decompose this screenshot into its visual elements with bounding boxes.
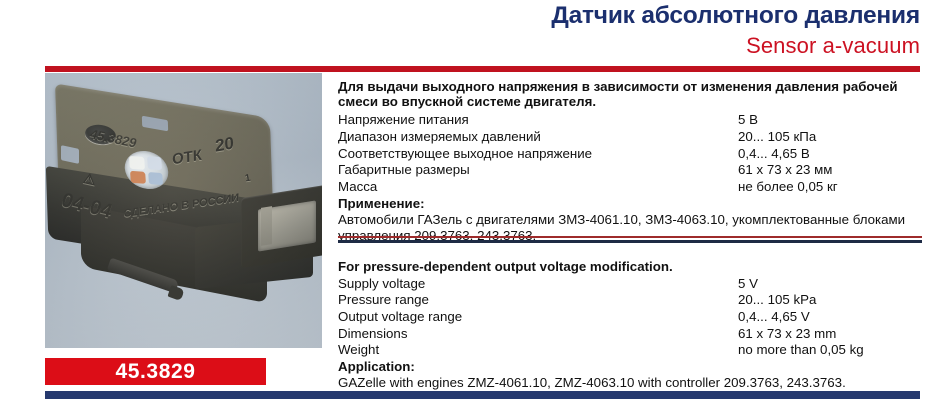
spec-value: не более 0,05 кг [738, 179, 838, 196]
divider-navy-line [338, 240, 922, 243]
table-row: Напряжение питания 5 В [338, 112, 922, 129]
spec-value: no more than 0,05 kg [738, 342, 864, 359]
intro-text-russian: Для выдачи выходного напряжения в зависи… [338, 80, 922, 109]
section-divider [338, 236, 922, 243]
table-row: Dimensions 61 x 73 x 23 mm [338, 326, 922, 343]
spec-value: 20... 105 kPa [738, 292, 816, 309]
page-header: Датчик абсолютного давления Sensor a-vac… [0, 0, 927, 62]
table-row: Supply voltage 5 V [338, 276, 922, 293]
table-row: Weight no more than 0,05 kg [338, 342, 922, 359]
top-red-rule [45, 66, 920, 72]
part-number-text: 45.3829 [115, 360, 195, 384]
sensor-connector-rib [261, 206, 272, 246]
photo-marking-small-number: 1 [244, 173, 251, 185]
spec-value: 20... 105 кПа [738, 129, 816, 146]
product-photo: 45.3829 ОТК 20 СДЕЛАНО В РОССИИ 04-04 ⚠ … [45, 73, 322, 348]
spec-value: 61 x 73 x 23 mm [738, 326, 836, 343]
table-row: Диапазон измеряемых давлений 20... 105 к… [338, 129, 922, 146]
table-row: Масса не более 0,05 кг [338, 179, 922, 196]
warning-triangle-icon: ⚠ [82, 170, 96, 190]
spec-value: 5 V [738, 276, 758, 293]
application-heading-english: Application: [338, 359, 922, 375]
spec-label: Соответствующее выходное напряжение [338, 146, 592, 161]
application-text-english: GAZelle with engines ZMZ-4061.10, ZMZ-40… [338, 375, 922, 391]
spec-label: Габаритные размеры [338, 162, 470, 177]
spec-value: 0,4... 4,65 V [738, 309, 810, 326]
specs-russian: Для выдачи выходного напряжения в зависи… [338, 80, 922, 244]
table-row: Pressure range 20... 105 kPa [338, 292, 922, 309]
spec-value: 61 х 73 х 23 мм [738, 162, 832, 179]
part-number-badge: 45.3829 [45, 358, 266, 385]
spec-label: Масса [338, 179, 377, 194]
spec-list-russian: Напряжение питания 5 В Диапазон измеряем… [338, 112, 922, 195]
page-title-english: Sensor a-vacuum [746, 33, 920, 59]
bottom-navy-bar [45, 391, 920, 399]
spec-label: Диапазон измеряемых давлений [338, 129, 541, 144]
spec-value: 0,4... 4,65 В [738, 146, 810, 163]
page-title-russian: Датчик абсолютного давления [551, 2, 920, 30]
application-heading-russian: Применение: [338, 196, 922, 212]
spec-value: 5 В [738, 112, 758, 129]
spec-label: Weight [338, 342, 379, 357]
divider-red-line [338, 236, 922, 238]
spec-label: Dimensions [338, 326, 407, 341]
sensor-vacuum-nipple-tip [167, 285, 184, 301]
spec-label: Supply voltage [338, 276, 425, 291]
table-row: Output voltage range 0,4... 4,65 V [338, 309, 922, 326]
photo-marking-otk-number: 20 [215, 133, 234, 156]
intro-text-english: For pressure-dependent output voltage mo… [338, 260, 922, 275]
spec-list-english: Supply voltage 5 V Pressure range 20... … [338, 276, 922, 359]
spec-label: Напряжение питания [338, 112, 469, 127]
spec-label: Pressure range [338, 292, 429, 307]
specs-english: For pressure-dependent output voltage mo… [338, 260, 922, 391]
table-row: Соответствующее выходное напряжение 0,4.… [338, 146, 922, 163]
table-row: Габаритные размеры 61 х 73 х 23 мм [338, 162, 922, 179]
spec-label: Output voltage range [338, 309, 462, 324]
